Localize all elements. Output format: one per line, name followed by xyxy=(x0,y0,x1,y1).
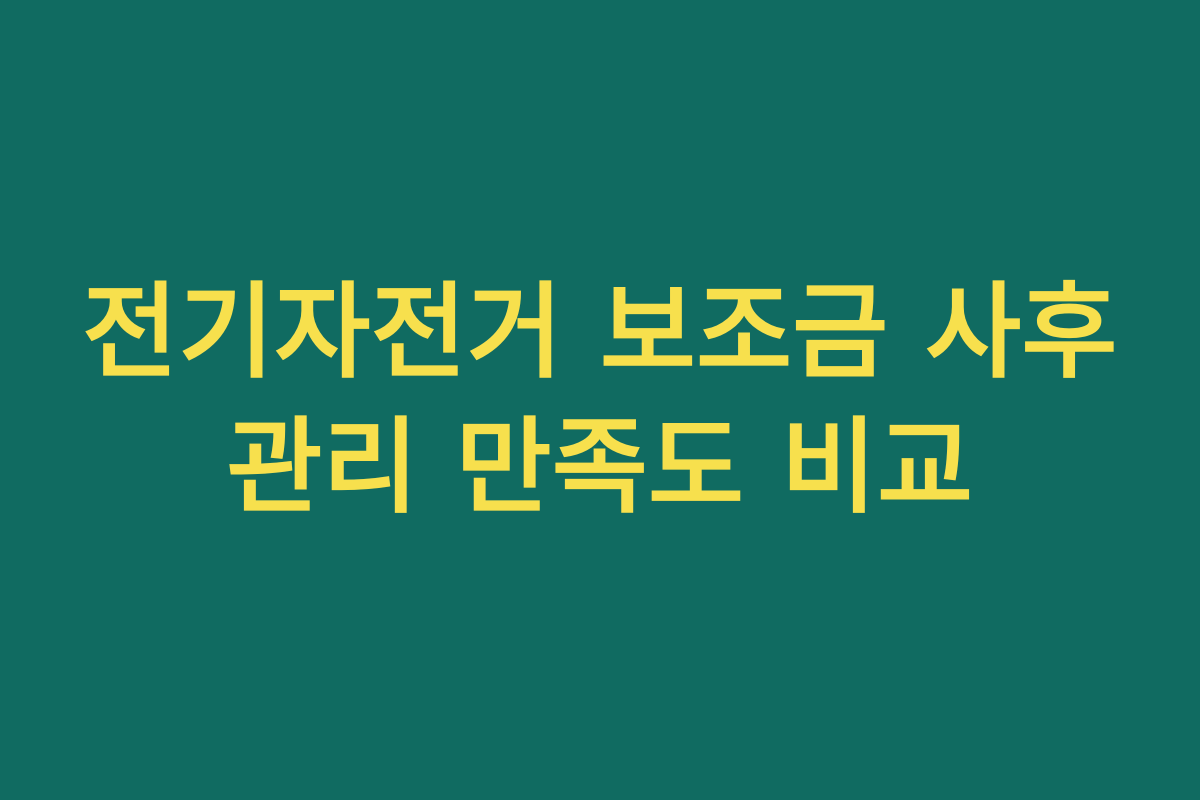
page-title: 전기자전거 보조금 사후 관리 만족도 비교 xyxy=(50,265,1150,535)
page-title-line-2: 관리 만족도 비교 xyxy=(50,400,1150,535)
page-title-line-1: 전기자전거 보조금 사후 xyxy=(50,265,1150,400)
title-card: 전기자전거 보조금 사후 관리 만족도 비교 xyxy=(0,0,1200,800)
